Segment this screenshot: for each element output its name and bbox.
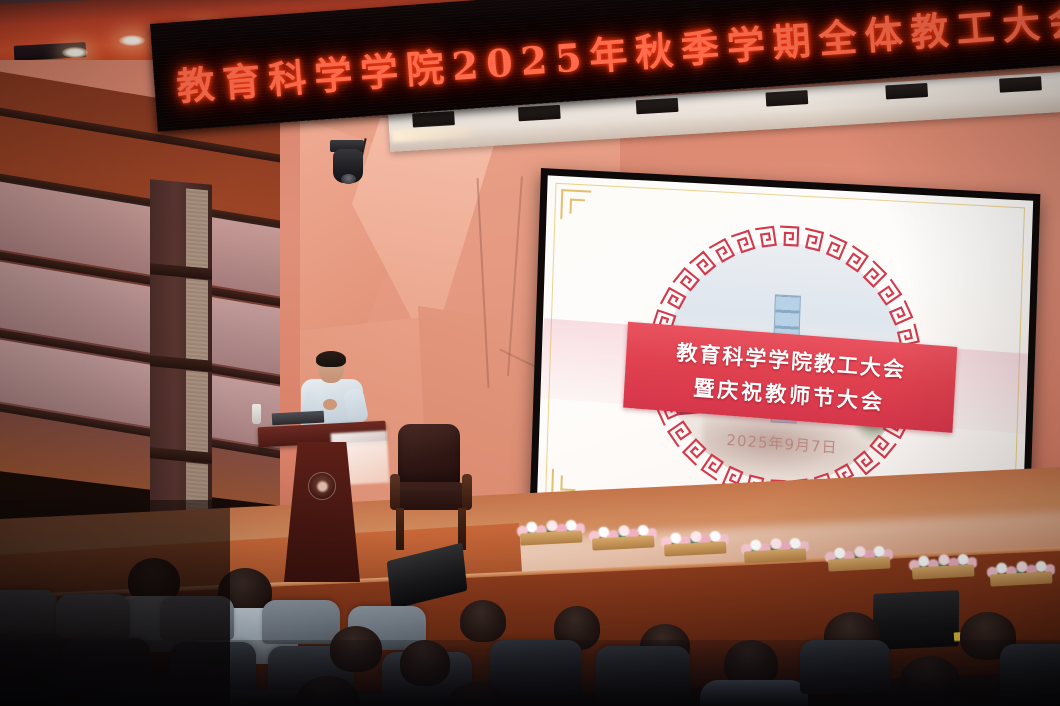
audience-head xyxy=(330,626,382,672)
valance-light-slot xyxy=(518,105,561,121)
seat[interactable] xyxy=(1000,644,1060,700)
chair-backrest xyxy=(398,424,460,486)
seat[interactable] xyxy=(490,640,582,696)
seat[interactable] xyxy=(596,646,690,702)
presenter-laptop-icon xyxy=(272,411,325,426)
downlight-icon xyxy=(119,35,145,46)
valance-light-slot xyxy=(885,83,928,99)
audience-shoulders xyxy=(700,680,808,706)
slide-corner-ornament xyxy=(560,189,591,221)
university-emblem-icon xyxy=(308,472,336,500)
presenter-hair xyxy=(316,351,346,367)
acoustic-strip xyxy=(186,370,208,452)
chair-armrest xyxy=(462,474,472,510)
chair-seat xyxy=(394,482,464,510)
valance-light-slot xyxy=(999,76,1042,92)
valance-light-slot xyxy=(636,98,679,114)
audience-head xyxy=(900,656,960,706)
audience-head xyxy=(460,600,506,642)
water-bottle-icon xyxy=(252,404,261,424)
valance-light-slot xyxy=(766,90,809,106)
acoustic-strip xyxy=(186,278,208,360)
acoustic-strip xyxy=(186,188,208,268)
stage-armchair xyxy=(392,424,470,552)
auditorium-scene: 教育科学学院2025年秋季学期全体教工大会既庆祝 xyxy=(0,0,1060,706)
seat[interactable] xyxy=(262,600,340,644)
spotlight-lens xyxy=(341,174,356,184)
seat[interactable] xyxy=(800,640,890,694)
downlight-icon xyxy=(62,47,88,58)
flower-box-icon xyxy=(591,525,654,550)
flower-box-icon xyxy=(519,520,582,545)
valance-light-slot xyxy=(412,111,455,127)
audience-head xyxy=(400,640,450,686)
presenter-hand xyxy=(323,399,337,410)
left-foreground-shadow xyxy=(0,500,230,706)
